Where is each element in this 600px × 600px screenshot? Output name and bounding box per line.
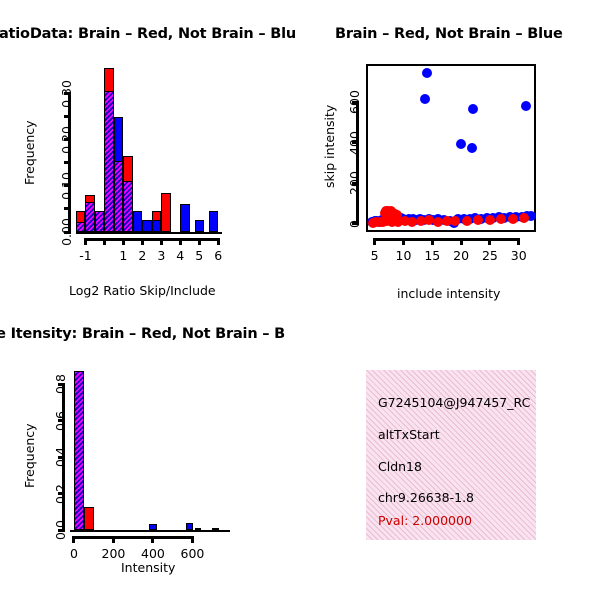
info-line-gene: Cldn18 <box>378 459 422 474</box>
info-line-pval: Pval: 2.000000 <box>378 513 472 528</box>
x-axis-tick <box>72 536 75 543</box>
x-axis-tick <box>373 238 376 245</box>
x-tick-label: 6 <box>193 248 243 263</box>
x-tick-label: 30 <box>494 248 544 263</box>
x-axis-tick <box>488 238 491 245</box>
x-axis-tick <box>198 238 201 245</box>
x-axis-tick <box>84 238 87 245</box>
x-axis-tick <box>517 238 520 245</box>
panel-ratio-histogram: RatioData: Brain – Red, Not Brain – Blu … <box>0 0 300 310</box>
ratio-histogram-axes: 0.000.100.200.30-1123456 <box>0 0 300 310</box>
scatter-axes: 020040060051015202530 <box>300 0 600 310</box>
y-tick-label: 0.8 <box>53 359 68 409</box>
intensity-histogram-axes: 0.00.20.40.60.80200400600 <box>0 310 300 600</box>
x-axis-tick <box>122 238 125 245</box>
x-axis-tick <box>191 536 194 543</box>
y-tick-label: 0.20 <box>59 115 74 165</box>
x-tick-label: 600 <box>167 546 217 561</box>
x-axis-tick <box>460 238 463 245</box>
x-axis-tick <box>151 536 154 543</box>
x-axis-line <box>375 238 519 241</box>
y-tick-label: 0.30 <box>59 69 74 119</box>
y-tick-label: 0.10 <box>59 161 74 211</box>
panel-info: G7245104@J947457_RC altTxStart Cldn18 ch… <box>300 310 600 600</box>
x-axis-tick <box>141 238 144 245</box>
x-axis-tick <box>160 238 163 245</box>
info-line-locus: chr9.26638-1.8 <box>378 490 474 505</box>
x-axis-tick <box>431 238 434 245</box>
info-line-probe: G7245104@J947457_RC <box>378 395 530 410</box>
x-axis-tick <box>103 238 106 245</box>
panel-intensity-scatter: Brain – Red, Not Brain – Blue skip inten… <box>300 0 600 310</box>
y-tick-label: 600 <box>347 77 362 127</box>
x-axis-line <box>74 536 193 539</box>
info-line-event-type: altTxStart <box>378 427 440 442</box>
x-axis-tick <box>112 536 115 543</box>
panel-intensity-histogram: ne Itensity: Brain – Red, Not Brain – B … <box>0 310 300 600</box>
x-axis-tick <box>179 238 182 245</box>
x-axis-tick <box>402 238 405 245</box>
gene-info-box: G7245104@J947457_RC altTxStart Cldn18 ch… <box>366 370 536 540</box>
x-axis-tick <box>217 238 220 245</box>
